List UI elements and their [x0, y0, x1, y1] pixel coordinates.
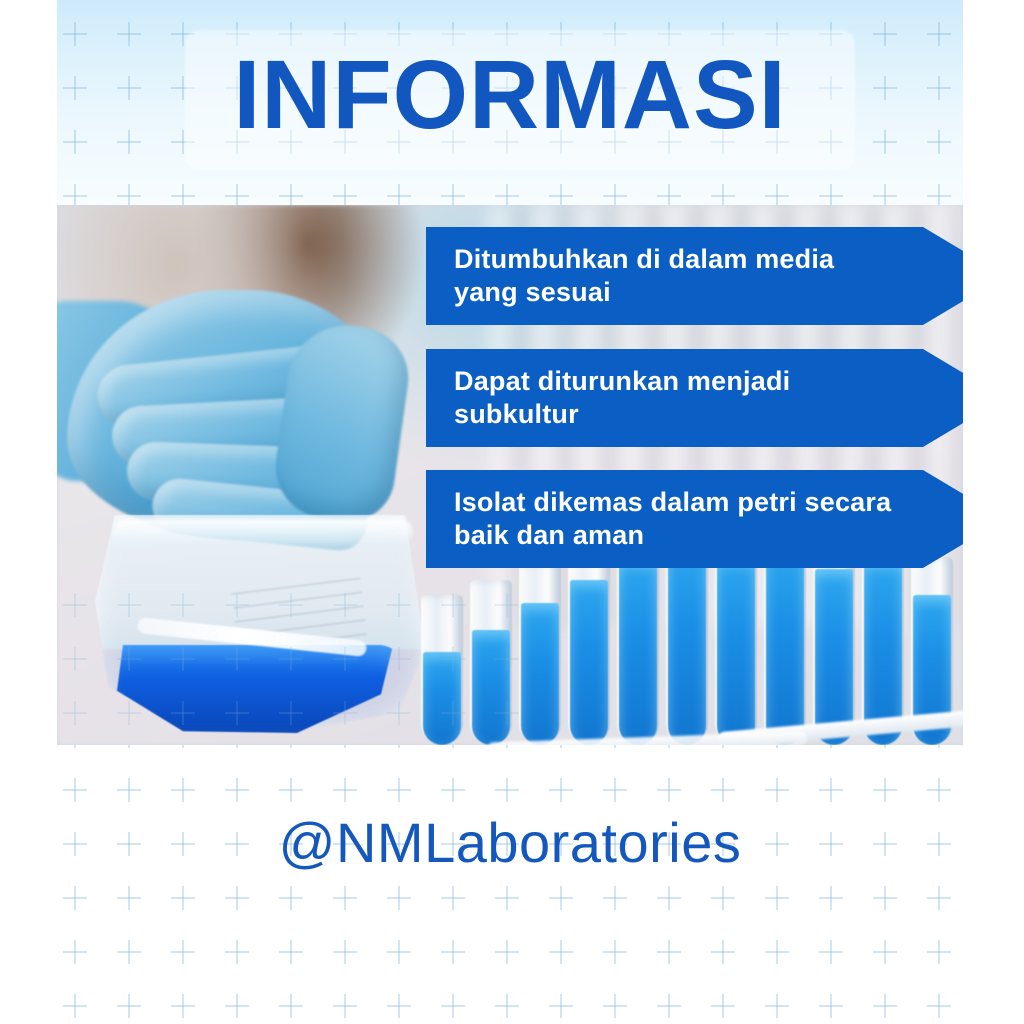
plus-mark [279, 886, 303, 910]
test-tube-liquid [766, 548, 804, 745]
plus-mark [873, 940, 897, 964]
plus-mark [927, 778, 951, 802]
plus-mark [873, 22, 897, 46]
plus-mark [63, 593, 87, 617]
test-tube [617, 540, 659, 745]
plus-mark [765, 940, 789, 964]
plus-mark [333, 994, 357, 1018]
poster-canvas: INFORMASI [57, 0, 963, 1024]
plus-mark [549, 886, 573, 910]
plus-mark [333, 778, 357, 802]
plus-mark [117, 593, 141, 617]
plus-mark [225, 994, 249, 1018]
plus-mark [225, 647, 249, 671]
plus-mark [495, 778, 519, 802]
plus-mark [225, 940, 249, 964]
plus-mark [117, 701, 141, 725]
plus-pattern-overlay [57, 585, 527, 745]
test-tube-liquid [815, 569, 853, 745]
plus-mark [63, 647, 87, 671]
plus-mark [387, 701, 411, 725]
plus-mark [117, 778, 141, 802]
plus-mark [279, 701, 303, 725]
test-tube [715, 537, 757, 745]
plus-mark [387, 593, 411, 617]
plus-mark [387, 886, 411, 910]
plus-mark [603, 940, 627, 964]
plus-mark [63, 940, 87, 964]
plus-mark [819, 778, 843, 802]
plus-mark [549, 994, 573, 1018]
info-banner-3-text: Isolat dikemas dalam petri secara baik d… [454, 486, 895, 552]
plus-mark [225, 778, 249, 802]
info-banner-1: Ditumbuhkan di dalam media yang sesuai [426, 227, 963, 325]
plus-mark [495, 647, 519, 671]
plus-mark [495, 994, 519, 1018]
test-tube [764, 540, 806, 745]
plus-mark [927, 940, 951, 964]
plus-mark [117, 940, 141, 964]
plus-mark [603, 994, 627, 1018]
plus-mark [711, 886, 735, 910]
poster: INFORMASI [0, 0, 1024, 1024]
plus-mark [765, 886, 789, 910]
plus-mark [873, 886, 897, 910]
plus-mark [171, 994, 195, 1018]
plus-mark [63, 778, 87, 802]
plus-mark [549, 778, 573, 802]
plus-mark [63, 22, 87, 46]
test-tube [813, 545, 855, 745]
plus-mark [171, 701, 195, 725]
plus-mark [495, 940, 519, 964]
social-handle: @NMLaboratories [57, 810, 963, 875]
plus-mark [441, 778, 465, 802]
plus-mark [279, 593, 303, 617]
plus-mark [63, 701, 87, 725]
plus-mark [225, 886, 249, 910]
plus-mark [171, 593, 195, 617]
plus-mark [279, 647, 303, 671]
plus-mark [333, 701, 357, 725]
plus-mark [117, 647, 141, 671]
plus-mark [495, 701, 519, 725]
plus-mark [873, 994, 897, 1018]
plus-mark [279, 994, 303, 1018]
plus-mark [333, 593, 357, 617]
plus-mark [495, 593, 519, 617]
plus-mark [927, 886, 951, 910]
plus-mark [819, 886, 843, 910]
plus-mark [441, 994, 465, 1018]
plus-mark [117, 886, 141, 910]
plus-mark [765, 994, 789, 1018]
info-banner-2-text: Dapat diturunkan menjadi subkultur [454, 365, 895, 431]
plus-mark [657, 778, 681, 802]
plus-mark [441, 701, 465, 725]
plus-mark [441, 647, 465, 671]
info-banner-3: Isolat dikemas dalam petri secara baik d… [426, 470, 963, 568]
plus-mark [387, 778, 411, 802]
test-tube [568, 549, 610, 745]
page-title: INFORMASI [57, 46, 963, 143]
plus-mark [279, 778, 303, 802]
plus-mark [603, 778, 627, 802]
plus-mark [495, 886, 519, 910]
plus-mark [333, 647, 357, 671]
plus-mark [873, 778, 897, 802]
plus-mark [927, 22, 951, 46]
plus-mark [711, 994, 735, 1018]
plus-mark [117, 994, 141, 1018]
plus-mark [333, 886, 357, 910]
test-tube-liquid [619, 560, 657, 745]
plus-mark [63, 994, 87, 1018]
plus-mark [549, 940, 573, 964]
plus-mark [441, 940, 465, 964]
info-banner-2: Dapat diturunkan menjadi subkultur [426, 349, 963, 447]
plus-mark [387, 647, 411, 671]
plus-mark [63, 886, 87, 910]
info-banner-1-text: Ditumbuhkan di dalam media yang sesuai [454, 243, 895, 309]
plus-mark [117, 22, 141, 46]
plus-mark [603, 886, 627, 910]
plus-mark [657, 886, 681, 910]
plus-mark [171, 778, 195, 802]
plus-mark [711, 940, 735, 964]
plus-mark [711, 778, 735, 802]
plus-mark [441, 593, 465, 617]
test-tube-liquid [570, 580, 608, 745]
plus-mark [171, 886, 195, 910]
plus-mark [657, 994, 681, 1018]
plus-mark [387, 994, 411, 1018]
plus-mark [171, 647, 195, 671]
flask-rim-highlight [113, 519, 413, 545]
plus-mark [333, 940, 357, 964]
plus-mark [441, 886, 465, 910]
plus-mark [387, 940, 411, 964]
plus-mark [225, 593, 249, 617]
plus-mark [171, 940, 195, 964]
plus-mark [819, 940, 843, 964]
plus-mark [765, 778, 789, 802]
plus-mark [657, 940, 681, 964]
plus-mark [927, 994, 951, 1018]
plus-mark [225, 701, 249, 725]
plus-mark [279, 940, 303, 964]
test-tube-liquid [668, 545, 706, 745]
test-tube-liquid [717, 558, 755, 745]
plus-mark [819, 994, 843, 1018]
